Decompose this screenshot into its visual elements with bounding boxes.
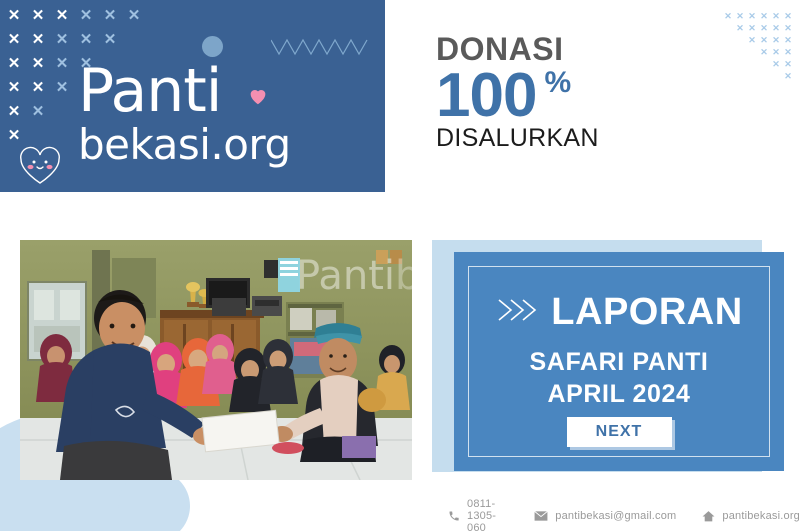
contact-email-text: pantibekasi@gmail.com [555, 510, 676, 522]
phone-icon [448, 510, 460, 522]
donation-percent-sign: % [544, 68, 571, 98]
smiling-heart-face-icon [18, 146, 62, 191]
donation-handover-photo [20, 240, 412, 480]
contact-email[interactable]: pantibekasi@gmail.com [534, 510, 676, 522]
report-panel: LAPORAN SAFARI PANTI APRIL 2024 NEXT [454, 252, 784, 471]
report-subtitle-line2: APRIL 2024 [454, 380, 784, 409]
x-mark-pattern-decoration-topright: ✕✕✕✕✕✕ ✕✕✕✕✕✕ ✕✕✕✕✕✕ ✕✕✕✕✕✕ ✕✕✕✕✕✕ ✕✕✕✕✕… [722, 6, 794, 78]
circle-dot-decoration [202, 36, 223, 57]
next-button[interactable]: NEXT [567, 417, 672, 447]
footer-contacts: 0811-1305-060 pantibekasi@gmail.com pant… [448, 498, 800, 531]
brand-logo-line1-text: Panti [78, 56, 221, 126]
triple-chevron-right-icon [495, 296, 539, 329]
poster-canvas: ✕✕✕✕✕✕ ✕✕✕✕✕ ✕✕✕✕ ✕✕✕ ✕✕ ✕ [0, 0, 800, 531]
report-title: LAPORAN [551, 292, 742, 332]
heart-icon [247, 58, 269, 80]
home-icon [702, 510, 715, 522]
brand-logo: Panti bekasi.org [78, 62, 291, 168]
donation-percent-row: 100 % [436, 66, 599, 126]
donation-stat-block: DONASI 100 % DISALURKAN [436, 30, 599, 152]
donation-number: 100 [436, 66, 536, 126]
contact-website[interactable]: pantibekasi.org [702, 510, 800, 522]
report-title-row: LAPORAN [454, 292, 784, 332]
next-button-wrapper: NEXT [454, 417, 784, 447]
report-subtitle-line1: SAFARI PANTI [454, 348, 784, 377]
brand-logo-line2: bekasi.org [78, 122, 291, 168]
contact-phone-text: 0811-1305-060 [467, 498, 508, 531]
brand-logo-line1: Panti [78, 62, 291, 120]
zigzag-line-decoration [271, 36, 369, 63]
envelope-icon [534, 510, 548, 522]
contact-phone[interactable]: 0811-1305-060 [448, 498, 508, 531]
donation-subtitle: DISALURKAN [436, 124, 599, 152]
brand-header-panel: ✕✕✕✕✕✕ ✕✕✕✕✕ ✕✕✕✕ ✕✕✕ ✕✕ ✕ [0, 0, 385, 192]
contact-website-text: pantibekasi.org [722, 510, 800, 522]
